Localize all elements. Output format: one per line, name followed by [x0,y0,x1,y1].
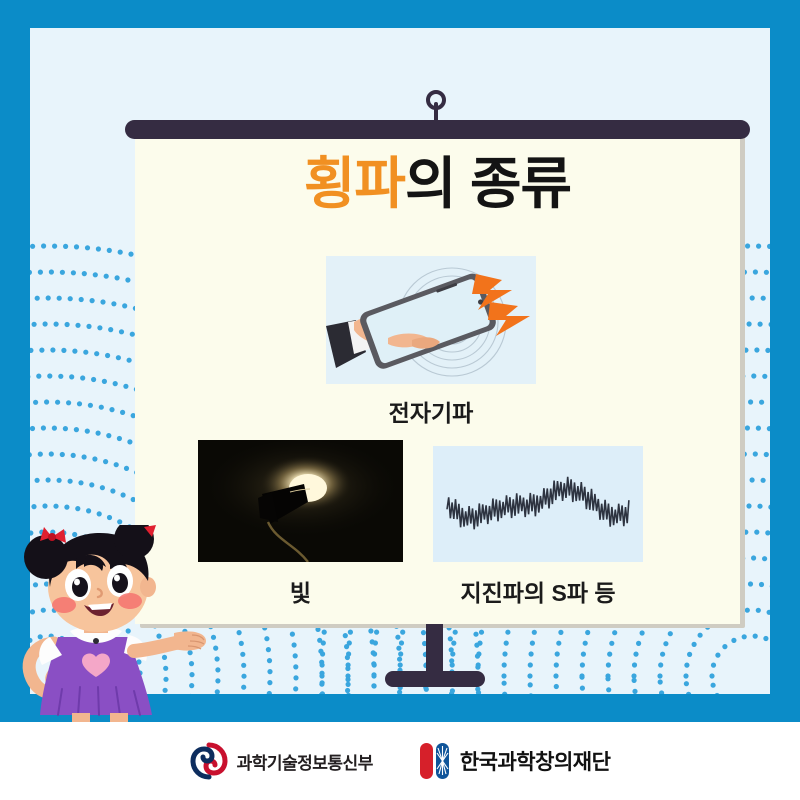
screen-stand-pole [426,624,443,676]
caption-electromagnetic-wave: 전자기파 [326,394,536,428]
page-title: 횡파의 종류 [135,156,740,212]
media-electromagnetic-wave [326,256,536,384]
media-seismic-wave [433,446,643,562]
title-rest: 의 종류 [405,152,571,215]
screen-top-bar [125,120,750,139]
screen-stand-foot [385,671,485,687]
media-light [198,440,403,562]
title-highlight: 횡파 [304,152,405,215]
logo-kofac: 한국과학창의재단 [419,741,611,781]
outer-blue-frame: 횡파의 종류 [0,0,800,722]
infographic-card: 횡파의 종류 [0,0,800,800]
taegeuk-icon [190,742,228,780]
footer-logos: 과학기술정보통신부 [0,722,800,800]
kofac-icon [419,741,451,781]
caption-seismic-wave: 지진파의 S파 등 [433,574,643,608]
logo-mosit: 과학기술정보통신부 [190,742,373,780]
girl-character [6,525,211,725]
logo-label-kofac: 한국과학창의재단 [460,746,611,776]
logo-label-mosit: 과학기술정보통신부 [237,749,373,774]
caption-light: 빛 [198,574,403,608]
